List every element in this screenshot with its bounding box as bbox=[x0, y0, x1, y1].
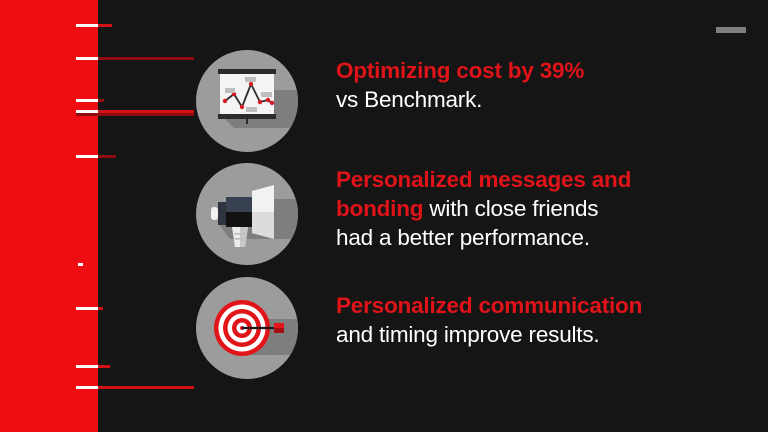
bullet-row: Personalized messages andbonding with cl… bbox=[196, 163, 631, 265]
highlight-text: bonding bbox=[336, 196, 423, 221]
icon-container bbox=[196, 163, 298, 265]
decor-line-1 bbox=[98, 24, 112, 27]
bullet-line: vs Benchmark. bbox=[336, 85, 584, 114]
decor-line-8 bbox=[76, 113, 194, 116]
target-dartboard-icon bbox=[196, 277, 298, 379]
highlight-text: Personalized messages and bbox=[336, 167, 631, 192]
icon-container bbox=[196, 50, 298, 152]
bullet-row: Personalized communicationand timing imp… bbox=[196, 277, 642, 379]
megaphone-icon bbox=[196, 163, 298, 265]
body-text: with close friends bbox=[423, 196, 598, 221]
decor-line-5 bbox=[98, 99, 104, 102]
corner-marker bbox=[716, 27, 746, 33]
body-text: vs Benchmark. bbox=[336, 87, 482, 112]
decor-line-3 bbox=[98, 57, 194, 60]
icon-circle-backdrop bbox=[196, 277, 298, 379]
decor-line-17 bbox=[98, 386, 194, 389]
icon-container bbox=[196, 277, 298, 379]
highlight-text: Optimizing cost by 39% bbox=[336, 58, 584, 83]
decor-line-16 bbox=[76, 386, 98, 389]
icon-circle-backdrop bbox=[196, 163, 298, 265]
decor-line-4 bbox=[76, 99, 98, 102]
body-text: and timing improve results. bbox=[336, 322, 599, 347]
bullet-line: and timing improve results. bbox=[336, 320, 642, 349]
decor-line-10 bbox=[98, 155, 116, 158]
bullet-line: Personalized communication bbox=[336, 291, 642, 320]
decor-line-14 bbox=[76, 365, 98, 368]
bullet-row: Optimizing cost by 39%vs Benchmark. bbox=[196, 50, 584, 152]
bullet-line: Optimizing cost by 39% bbox=[336, 56, 584, 85]
bullet-text: Personalized messages andbonding with cl… bbox=[336, 163, 631, 252]
bullet-line: Personalized messages and bbox=[336, 165, 631, 194]
bullet-text: Personalized communicationand timing imp… bbox=[336, 277, 642, 349]
decor-line-12 bbox=[76, 307, 98, 310]
decor-line-0 bbox=[76, 24, 98, 27]
highlight-text: Personalized communication bbox=[336, 293, 642, 318]
decor-line-15 bbox=[98, 365, 110, 368]
bullet-line: had a better performance. bbox=[336, 223, 631, 252]
decor-line-9 bbox=[76, 155, 98, 158]
line-chart-presentation-icon bbox=[196, 50, 298, 152]
body-text: had a better performance. bbox=[336, 225, 590, 250]
decor-line-13 bbox=[98, 307, 103, 310]
bullet-text: Optimizing cost by 39%vs Benchmark. bbox=[336, 50, 584, 114]
decor-line-11 bbox=[78, 263, 83, 266]
icon-circle-backdrop bbox=[196, 50, 298, 152]
slide-canvas: Optimizing cost by 39%vs Benchmark. bbox=[0, 0, 768, 432]
bullet-line: bonding with close friends bbox=[336, 194, 631, 223]
decor-line-2 bbox=[76, 57, 98, 60]
